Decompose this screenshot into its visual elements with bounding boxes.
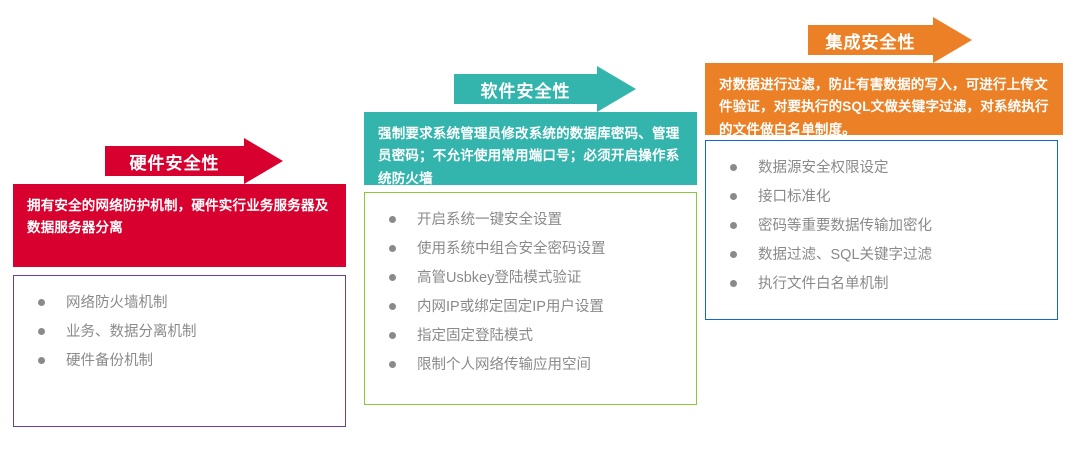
arrow-body: 集成安全性	[808, 25, 933, 55]
list-item-label: 高管Usbkey登陆模式验证	[417, 271, 581, 287]
list-item: 数据过滤、SQL关键字过滤	[730, 248, 1047, 264]
list-item: 执行文件白名单机制	[730, 277, 1047, 293]
list-item-label: 硬件备份机制	[66, 354, 153, 370]
bullet-dot-icon	[389, 361, 396, 368]
header-block-integration: 对数据进行过滤，防止有害数据的写入，可进行上传文件验证，对要执行的SQL文做关键…	[705, 63, 1063, 135]
bullet-dot-icon	[38, 299, 45, 306]
bullet-dot-icon	[389, 274, 396, 281]
arrow-label-integration: 集成安全性	[816, 28, 926, 53]
list-item: 指定固定登陆模式	[389, 329, 686, 345]
bullet-dot-icon	[389, 332, 396, 339]
arrow-label-software: 软件安全性	[471, 77, 581, 102]
arrow-body: 硬件安全性	[105, 146, 244, 176]
column-integration-security: 集成安全性 对数据进行过滤，防止有害数据的写入，可进行上传文件验证，对要执行的S…	[705, 17, 1063, 320]
infographic-canvas: · · · · 硬件安全性 拥有安全的网络防护机制，硬件实行业务服务器及数据服务…	[0, 0, 1073, 473]
bullet-dot-icon	[730, 280, 737, 287]
bullet-dot-icon	[730, 222, 737, 229]
bullet-dot-icon	[730, 251, 737, 258]
list-item: 高管Usbkey登陆模式验证	[389, 271, 686, 287]
header-block-hardware: 拥有安全的网络防护机制，硬件实行业务服务器及数据服务器分离	[13, 184, 346, 267]
bullet-dot-icon	[38, 328, 45, 335]
bullet-card-software: 开启系统一键安全设置 使用系统中组合安全密码设置 高管Usbkey登陆模式验证 …	[364, 192, 697, 405]
list-item: 业务、数据分离机制	[38, 325, 335, 341]
bullet-dot-icon	[389, 245, 396, 252]
list-item-label: 接口标准化	[758, 190, 831, 206]
list-item-label: 数据源安全权限设定	[758, 161, 889, 177]
list-item-label: 限制个人网络传输应用空间	[417, 358, 591, 374]
clipped-top-text: · · · ·	[55, 0, 495, 2]
list-item: 限制个人网络传输应用空间	[389, 358, 686, 374]
bullet-dot-icon	[389, 303, 396, 310]
bullet-dot-icon	[730, 193, 737, 200]
list-item: 开启系统一键安全设置	[389, 213, 686, 229]
list-item: 内网IP或绑定固定IP用户设置	[389, 300, 686, 316]
arrow-body: 软件安全性	[454, 74, 597, 104]
list-item: 使用系统中组合安全密码设置	[389, 242, 686, 258]
list-item: 数据源安全权限设定	[730, 161, 1047, 177]
bullet-dot-icon	[38, 357, 45, 364]
list-item-label: 指定固定登陆模式	[417, 329, 533, 345]
list-item-label: 业务、数据分离机制	[66, 325, 197, 341]
list-item-label: 执行文件白名单机制	[758, 277, 889, 293]
arrow-banner-integration: 集成安全性	[705, 17, 1063, 63]
list-item-label: 开启系统一键安全设置	[417, 213, 562, 229]
list-item: 密码等重要数据传输加密化	[730, 219, 1047, 235]
arrow-banner-software: 软件安全性	[364, 66, 697, 112]
list-item: 硬件备份机制	[38, 354, 335, 370]
bullet-card-hardware: 网络防火墙机制 业务、数据分离机制 硬件备份机制	[13, 275, 346, 427]
header-block-software: 强制要求系统管理员修改系统的数据库密码、管理员密码；不允许使用常用端口号；必须开…	[364, 112, 697, 185]
bullet-card-integration: 数据源安全权限设定 接口标准化 密码等重要数据传输加密化 数据过滤、SQL关键字…	[705, 140, 1058, 320]
list-item-label: 数据过滤、SQL关键字过滤	[758, 248, 932, 264]
arrow-banner-hardware: 硬件安全性	[13, 138, 346, 184]
bullet-dot-icon	[730, 164, 737, 171]
list-item: 接口标准化	[730, 190, 1047, 206]
bullet-dot-icon	[389, 216, 396, 223]
arrow-label-hardware: 硬件安全性	[120, 149, 230, 174]
column-software-security: 软件安全性 强制要求系统管理员修改系统的数据库密码、管理员密码；不允许使用常用端…	[364, 66, 697, 405]
list-item-label: 内网IP或绑定固定IP用户设置	[417, 300, 604, 316]
arrow-head-icon	[244, 138, 283, 184]
arrow-head-icon	[597, 66, 636, 112]
arrow-head-icon	[933, 17, 972, 63]
list-item-label: 使用系统中组合安全密码设置	[417, 242, 606, 258]
column-hardware-security: 硬件安全性 拥有安全的网络防护机制，硬件实行业务服务器及数据服务器分离 网络防火…	[13, 138, 346, 427]
list-item: 网络防火墙机制	[38, 296, 335, 312]
list-item-label: 网络防火墙机制	[66, 296, 168, 312]
list-item-label: 密码等重要数据传输加密化	[758, 219, 932, 235]
